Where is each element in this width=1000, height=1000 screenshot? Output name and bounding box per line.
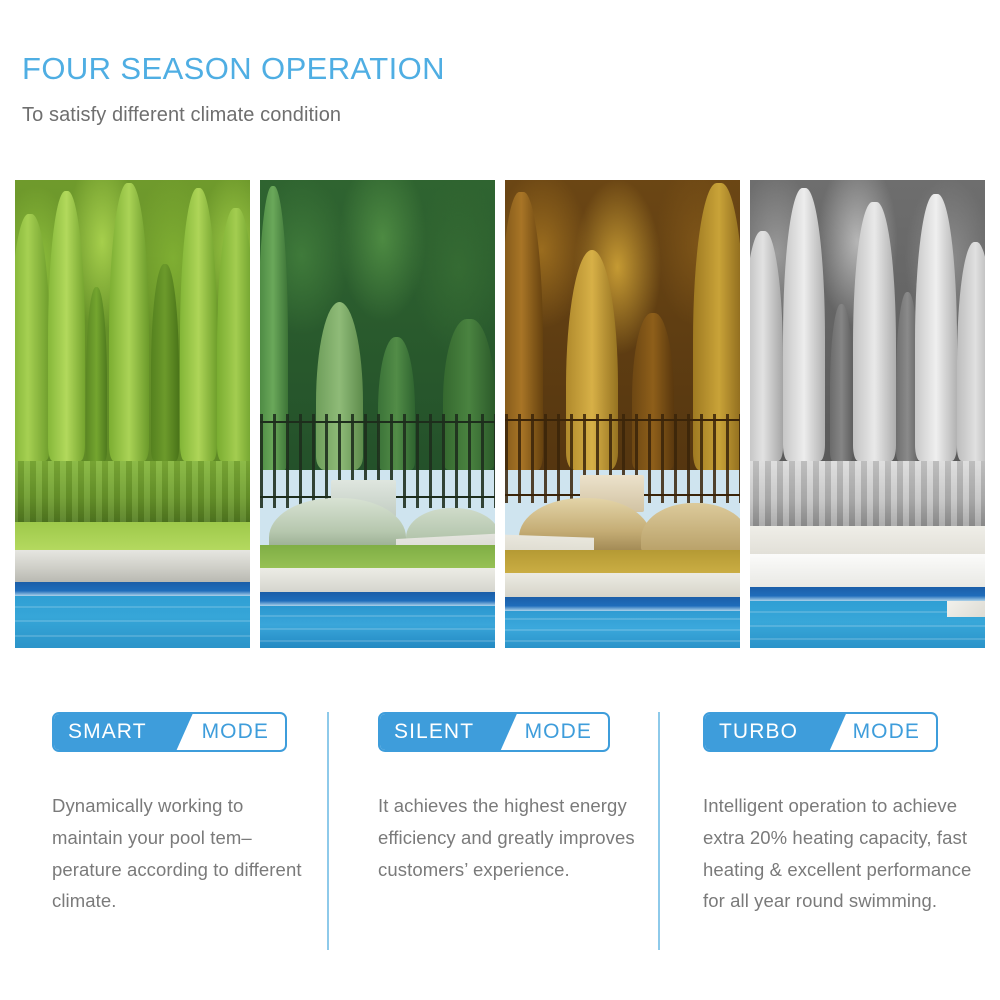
badge-tail-label: MODE: [853, 720, 936, 744]
silent-mode-badge[interactable]: SILENT MODE: [378, 712, 610, 752]
pool-deck: [505, 573, 740, 596]
badge-labels: SILENT MODE: [380, 714, 608, 750]
lawn-strip: [505, 550, 740, 573]
turbo-mode-badge[interactable]: TURBO MODE: [703, 712, 938, 752]
badge-labels: TURBO MODE: [705, 714, 936, 750]
pool-water-body: [15, 596, 250, 648]
pool-deck: [260, 568, 495, 591]
season-panels: [15, 180, 985, 648]
season-panel-winter: [750, 180, 985, 648]
mode-column-silent: SILENT MODE It achieves the highest ener…: [378, 712, 640, 904]
smart-mode-badge[interactable]: SMART MODE: [52, 712, 287, 752]
mode-description: Intelligent operation to achieve extra 2…: [703, 790, 985, 917]
four-season-operation-page: FOUR SEASON OPERATION To satisfy differe…: [0, 0, 1000, 1000]
season-panel-summer: [260, 180, 495, 648]
page-title: FOUR SEASON OPERATION: [22, 52, 922, 86]
scene-autumn: [505, 180, 740, 648]
pool-water-body: [750, 601, 985, 648]
pool-water: [15, 582, 250, 648]
scene-summer: [260, 180, 495, 648]
cypress-trees-icon: [15, 180, 250, 461]
pool-deck: [15, 550, 250, 583]
header: FOUR SEASON OPERATION To satisfy differe…: [22, 52, 922, 127]
mode-description: Dynamically working to maintain your poo…: [52, 790, 314, 917]
badge-lead-label: SILENT: [380, 720, 474, 744]
page-subtitle: To satisfy different climate condition: [22, 104, 922, 127]
scene-spring: [15, 180, 250, 648]
badge-labels: SMART MODE: [54, 714, 285, 750]
snow-pool-deck: [750, 554, 985, 587]
mode-column-turbo: TURBO MODE Intelligent operation to achi…: [703, 712, 985, 936]
snow-ground-strip: [750, 526, 985, 554]
badge-lead-label: SMART: [54, 720, 147, 744]
season-panel-spring: [15, 180, 250, 648]
pool-water-body: [260, 606, 495, 648]
mode-description: It achieves the highest energy efficienc…: [378, 790, 640, 885]
season-panel-autumn: [505, 180, 740, 648]
snow-hedge-row-icon: [750, 461, 985, 527]
mode-columns: SMART MODE Dynamically working to mainta…: [0, 712, 1000, 972]
badge-lead-label: TURBO: [705, 720, 798, 744]
mode-column-smart: SMART MODE Dynamically working to mainta…: [52, 712, 314, 936]
snow-covered-trees-icon: [750, 180, 985, 461]
badge-tail-label: MODE: [525, 720, 608, 744]
pool-water: [505, 597, 740, 648]
badge-tail-label: MODE: [202, 720, 285, 744]
lawn-strip: [260, 545, 495, 568]
hedge-row-icon: [15, 461, 250, 522]
scene-winter: [750, 180, 985, 648]
pool-water: [260, 592, 495, 648]
lawn-strip: [15, 522, 250, 550]
pool-water: [750, 587, 985, 648]
pool-water-body: [505, 611, 740, 648]
shrub-bed-icon: [641, 503, 740, 554]
